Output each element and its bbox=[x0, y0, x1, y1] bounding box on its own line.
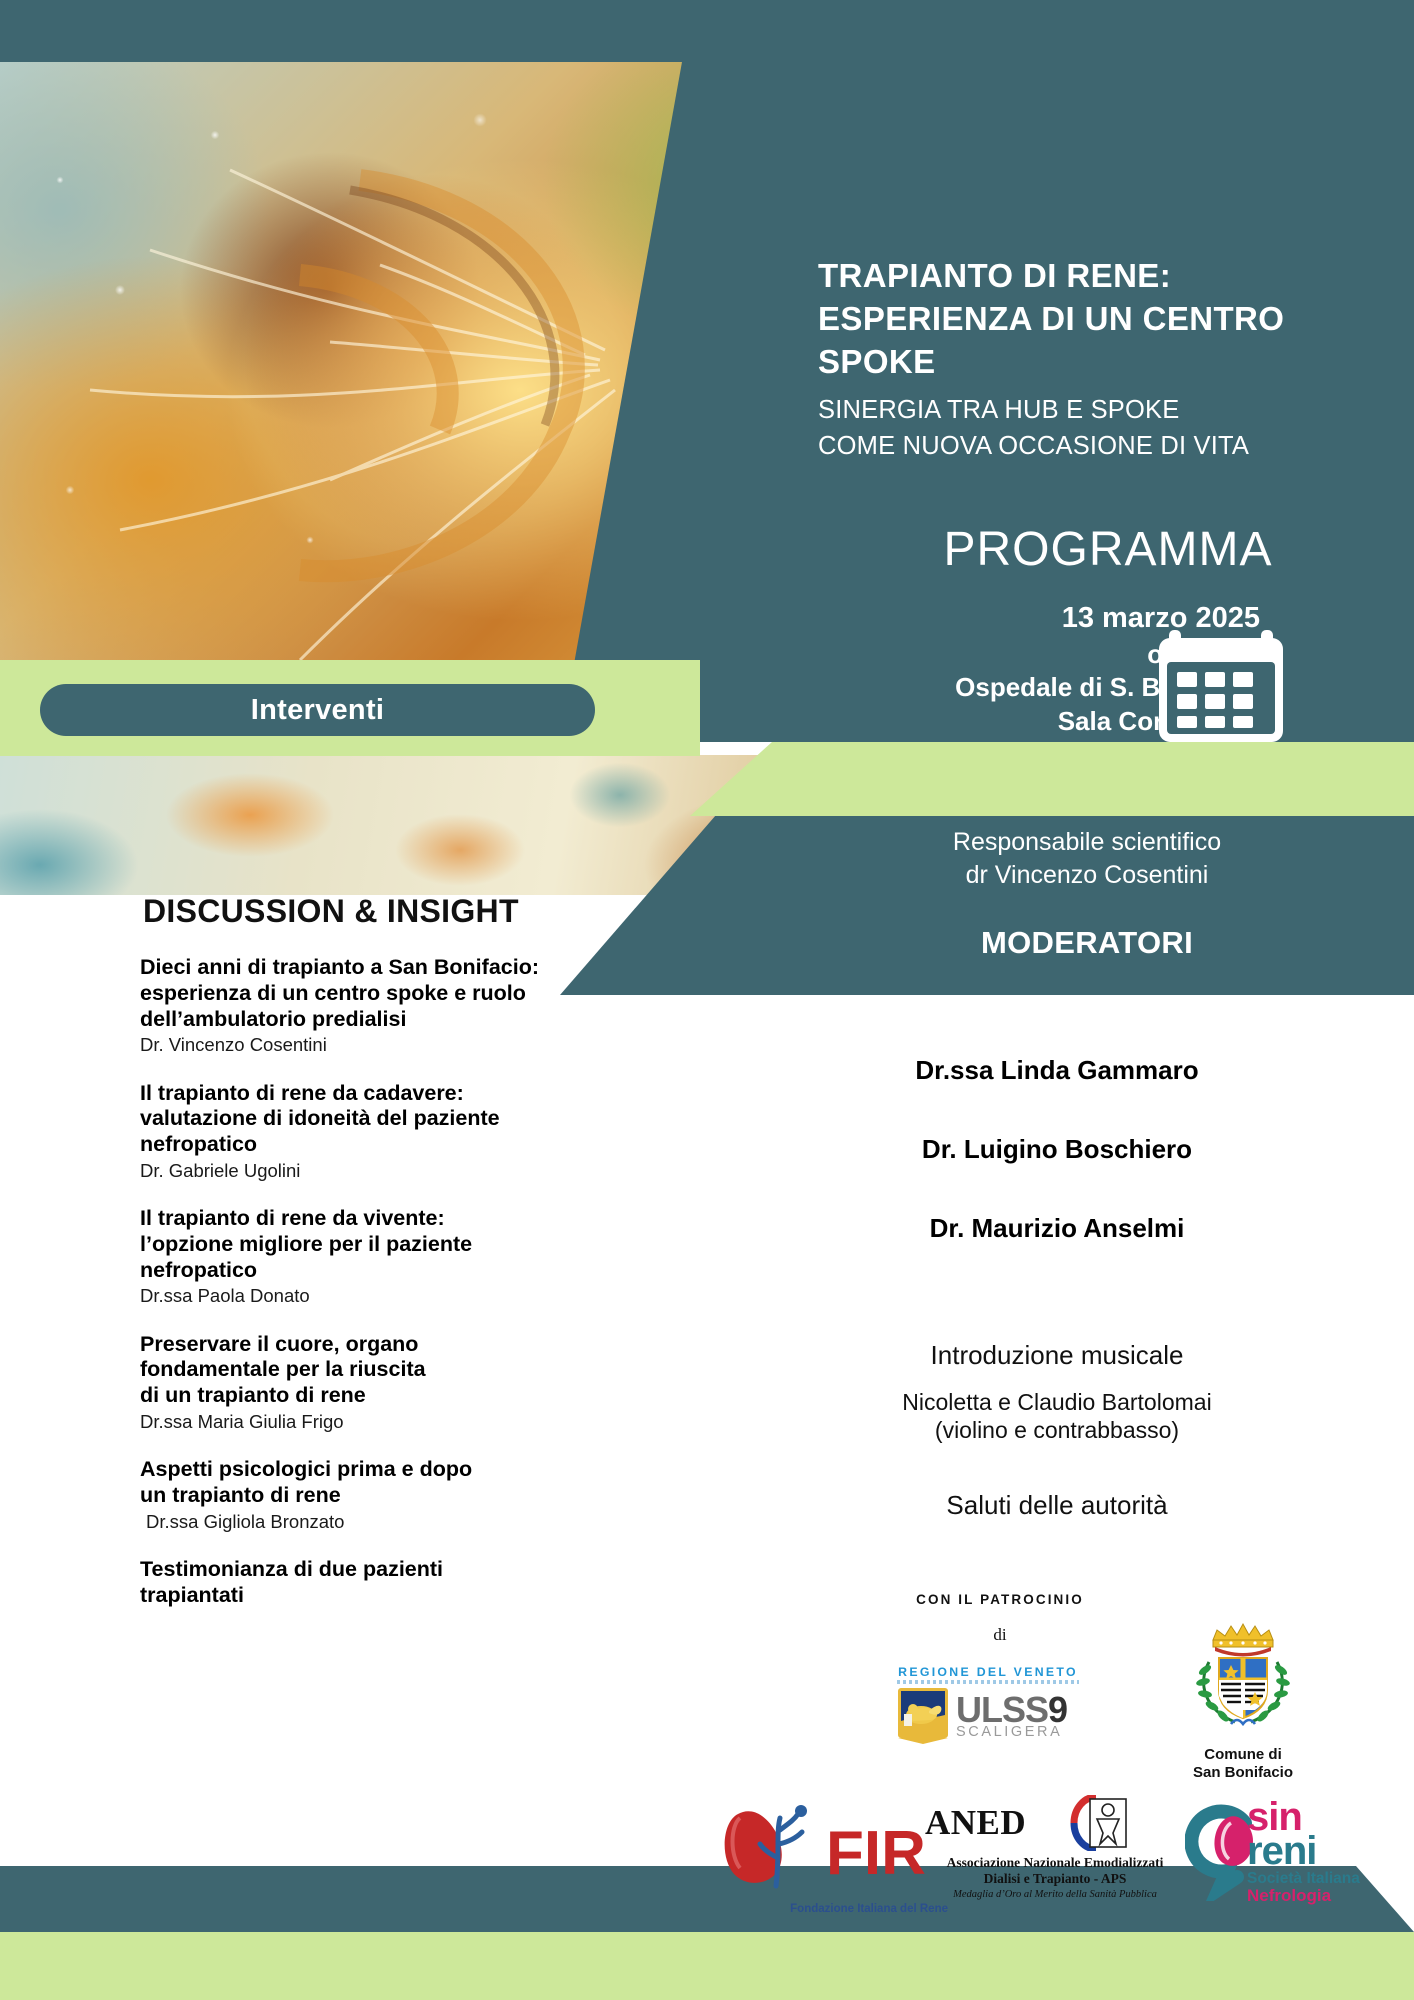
sin-logo: sin reni Società Italiana Nefrologia bbox=[1185, 1793, 1385, 1906]
ulss-region-label: REGIONE DEL VENETO bbox=[897, 1665, 1079, 1679]
conference-poster: TRAPIANTO DI RENE: ESPERIENZA DI UN CENT… bbox=[0, 0, 1414, 2000]
moderator-name: Dr. Maurizio Anselmi bbox=[700, 1213, 1414, 1244]
ulss-sub: SCALIGERA bbox=[956, 1726, 1067, 1739]
talk-title: Il trapianto di rene da vivente:l’opzion… bbox=[140, 1206, 610, 1283]
fir-logo: FIR Fondazione Italiana del Rene bbox=[718, 1800, 948, 1918]
saluti-autorita: Saluti delle autorità bbox=[700, 1490, 1414, 1521]
talk-item: Dieci anni di trapianto a San Bonifacio:… bbox=[140, 955, 610, 1057]
aned-name: ANED bbox=[925, 1803, 1026, 1843]
ulss-name: ULSS9 bbox=[956, 1693, 1067, 1726]
poster-subtitle-line-2: COME NUOVA OCCASIONE DI VITA bbox=[818, 430, 1398, 464]
responsabile-name: dr Vincenzo Cosentini bbox=[760, 859, 1414, 892]
top-teal-bar bbox=[0, 0, 1414, 62]
comune-label: Comune di San Bonifacio bbox=[1158, 1746, 1328, 1781]
fir-kidney-icon: FIR bbox=[718, 1800, 948, 1896]
talk-title: Dieci anni di trapianto a San Bonifacio:… bbox=[140, 955, 610, 1032]
responsabile-label: Responsabile scientifico bbox=[760, 826, 1414, 859]
performer-names: Nicoletta e Claudio Bartolomai bbox=[700, 1388, 1414, 1416]
svg-text:FIR: FIR bbox=[826, 1819, 926, 1888]
moderators-list: Dr.ssa Linda Gammaro Dr. Luigino Boschie… bbox=[700, 1055, 1414, 1292]
discussion-insight-heading: DISCUSSION & INSIGHT bbox=[143, 893, 519, 930]
poster-title-line-1: TRAPIANTO DI RENE: bbox=[818, 255, 1398, 298]
talk-title: Preservare il cuore, organofondamentale … bbox=[140, 1332, 610, 1409]
talks-list: Dieci anni di trapianto a San Bonifacio:… bbox=[140, 955, 610, 1632]
moderator-name: Dr.ssa Linda Gammaro bbox=[700, 1055, 1414, 1086]
talk-item: Il trapianto di rene da cadavere:valutaz… bbox=[140, 1081, 610, 1183]
lime-footer-bar bbox=[0, 1932, 1414, 2000]
interventi-badge: Interventi bbox=[40, 684, 595, 736]
lime-band-right bbox=[690, 742, 1414, 816]
talk-title: Aspetti psicologici prima e dopoun trapi… bbox=[140, 1457, 610, 1509]
moderator-name: Dr. Luigino Boschiero bbox=[700, 1134, 1414, 1165]
patrocinio-di: di bbox=[800, 1625, 1200, 1645]
sin-societa-line: Società Italiana bbox=[1247, 1871, 1360, 1887]
talk-speaker: Dr.ssa Maria Giulia Frigo bbox=[140, 1410, 610, 1433]
fir-caption: Fondazione Italiana del Rene bbox=[718, 1903, 948, 1915]
comune-san-bonifacio-logo: Comune di San Bonifacio bbox=[1158, 1618, 1328, 1781]
sin-nefrologia-line: Nefrologia bbox=[1247, 1887, 1360, 1904]
poster-title-block: TRAPIANTO DI RENE: ESPERIENZA DI UN CENT… bbox=[818, 255, 1398, 463]
calendar-icon bbox=[1157, 624, 1285, 746]
talk-speaker: Dr. Vincenzo Cosentini bbox=[140, 1033, 610, 1056]
patrocinio-heading: CON IL PATROCINIO bbox=[800, 1592, 1200, 1607]
aned-emblem-icon bbox=[1032, 1795, 1130, 1851]
talk-speaker: Dr.ssa Paola Donato bbox=[140, 1284, 610, 1307]
veneto-lion-shield-icon bbox=[897, 1687, 949, 1745]
aned-caption: Associazione Nazionale Emodializzati Dia… bbox=[925, 1855, 1185, 1900]
talk-speaker: Dr.ssa Gigliola Bronzato bbox=[140, 1510, 610, 1533]
poster-subtitle-line-1: SINERGIA TRA HUB E SPOKE bbox=[818, 394, 1398, 428]
talk-title: Il trapianto di rene da cadavere:valutaz… bbox=[140, 1081, 610, 1158]
talk-title: Testimonianza di due pazientitrapiantati bbox=[140, 1557, 610, 1609]
talk-item: Aspetti psicologici prima e dopoun trapi… bbox=[140, 1457, 610, 1533]
talk-item: Preservare il cuore, organofondamentale … bbox=[140, 1332, 610, 1434]
poster-title-line-2: ESPERIENZA DI UN CENTRO SPOKE bbox=[818, 298, 1398, 384]
programma-heading: PROGRAMMA bbox=[818, 522, 1398, 577]
reni-word: reni bbox=[1247, 1834, 1360, 1869]
ulss-dotted-rule bbox=[897, 1680, 1079, 1684]
talk-item: Testimonianza di due pazientitrapiantati bbox=[140, 1557, 610, 1609]
moderatori-heading: MODERATORI bbox=[760, 925, 1414, 961]
interventi-label: Interventi bbox=[251, 694, 385, 727]
talk-speaker: Dr. Gabriele Ugolini bbox=[140, 1159, 610, 1182]
performer-instruments: (violino e contrabbasso) bbox=[700, 1416, 1414, 1444]
comune-crest-icon bbox=[1179, 1618, 1307, 1738]
talk-item: Il trapianto di rene da vivente:l’opzion… bbox=[140, 1206, 610, 1308]
aned-logo: ANED Associazione Nazionale Emodializzat… bbox=[925, 1795, 1185, 1900]
responsabile-block: Responsabile scientifico dr Vincenzo Cos… bbox=[760, 826, 1414, 892]
musical-performers: Nicoletta e Claudio Bartolomai (violino … bbox=[700, 1388, 1414, 1444]
ulss9-logo: REGIONE DEL VENETO ULSS9 SCALIGERA bbox=[897, 1665, 1079, 1750]
musical-intro-title: Introduzione musicale bbox=[700, 1340, 1414, 1371]
